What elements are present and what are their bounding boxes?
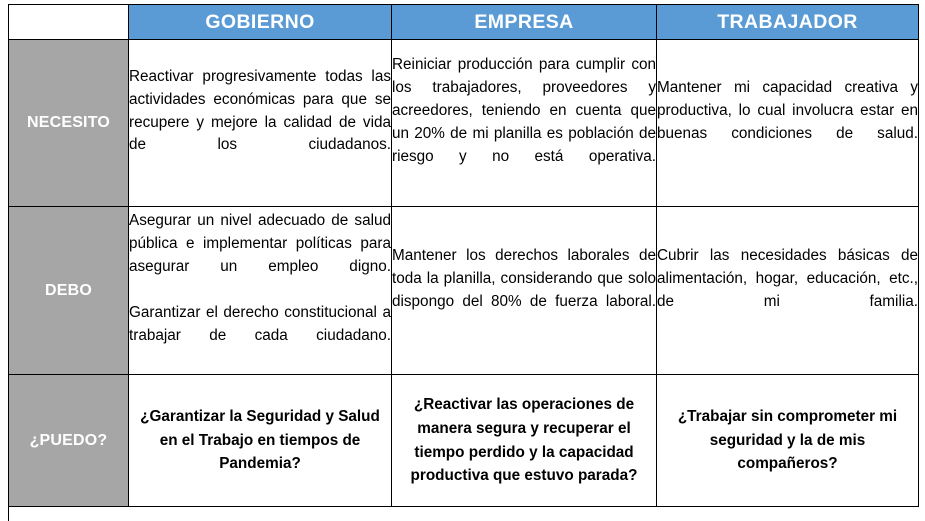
cell-paragraph: Garantizar el derecho constitucional a t… [129,302,391,371]
cell-debo-empresa: Mantener los derechos laborales de toda … [392,207,657,375]
cell-debo-trabajador: Cubrir las necesidades básicas de alimen… [657,207,919,375]
table-filler-row [9,507,919,521]
cell-paragraph: ¿Garantizar la Seguridad y Salud en el T… [139,405,381,476]
corner-cell [9,5,129,40]
matrix-container: GOBIERNO EMPRESA TRABAJADOR NECESITO Rea… [0,0,925,504]
stakeholder-needs-matrix: GOBIERNO EMPRESA TRABAJADOR NECESITO Rea… [8,4,919,521]
table-row: ¿PUEDO? ¿Garantizar la Seguridad y Salud… [9,375,919,507]
cell-necesito-empresa: Reiniciar producción para cumplir con lo… [392,40,657,207]
filler-cell [9,507,129,521]
column-header-empresa: EMPRESA [392,5,657,40]
cell-puedo-empresa: ¿Reactivar las operaciones de manera seg… [392,375,657,507]
cell-paragraph: Mantener mi capacidad creativa y product… [657,77,918,169]
column-header-trabajador: TRABAJADOR [657,5,919,40]
cell-paragraph: Reiniciar producción para cumplir con lo… [392,54,656,192]
table-header-row: GOBIERNO EMPRESA TRABAJADOR [9,5,919,40]
cell-puedo-gobierno: ¿Garantizar la Seguridad y Salud en el T… [129,375,392,507]
column-header-gobierno: GOBIERNO [129,5,392,40]
filler-cell [392,507,657,521]
cell-paragraph: ¿Trabajar sin comprometer mi seguridad y… [667,405,908,476]
row-label-debo: DEBO [9,207,129,375]
cell-paragraph: ¿Reactivar las operaciones de manera seg… [402,393,646,488]
table-row: NECESITO Reactivar progresivamente todas… [9,40,919,207]
row-label-necesito: NECESITO [9,40,129,207]
row-label-puedo: ¿PUEDO? [9,375,129,507]
filler-cell [657,507,919,521]
cell-paragraph: Cubrir las necesidades básicas de alimen… [657,245,918,337]
cell-paragraph: Reactivar progresivamente todas las acti… [129,66,391,181]
filler-cell [129,507,392,521]
cell-paragraph: Asegurar un nivel adecuado de salud públ… [129,210,391,302]
cell-puedo-trabajador: ¿Trabajar sin comprometer mi seguridad y… [657,375,919,507]
table-row: DEBO Asegurar un nivel adecuado de salud… [9,207,919,375]
cell-necesito-trabajador: Mantener mi capacidad creativa y product… [657,40,919,207]
cell-paragraph: Mantener los derechos laborales de toda … [392,245,656,337]
cell-debo-gobierno: Asegurar un nivel adecuado de salud públ… [129,207,392,375]
cell-necesito-gobierno: Reactivar progresivamente todas las acti… [129,40,392,207]
